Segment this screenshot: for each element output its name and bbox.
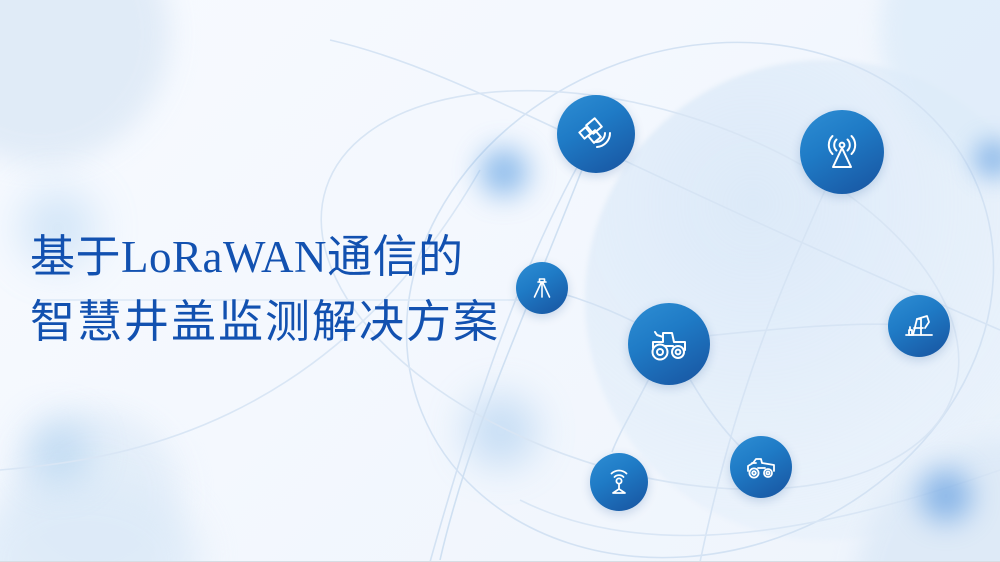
background-globe-circle xyxy=(585,60,1000,540)
survey-tripod-icon-bubble[interactable] xyxy=(516,262,568,314)
title-line-2: 智慧井盖监测解决方案 xyxy=(30,286,590,358)
background-dot-lower-left xyxy=(28,420,90,482)
background-dot-bottom-right xyxy=(920,470,972,522)
title-line-1: 基于LoRaWAN通信的 xyxy=(30,228,590,286)
background-dot-center xyxy=(465,395,537,467)
background-blob-bottom-right xyxy=(855,440,1000,562)
radio-tower-icon xyxy=(819,129,865,175)
wifi-beacon-icon-bubble[interactable] xyxy=(590,453,648,511)
tractor-icon-bubble[interactable] xyxy=(628,303,710,385)
dump-truck-icon-bubble[interactable] xyxy=(730,436,792,498)
satellite-dish-icon xyxy=(574,112,618,156)
survey-tripod-icon xyxy=(528,274,556,302)
tractor-icon xyxy=(645,320,693,368)
background-dot-upper-center xyxy=(480,148,528,196)
background-dot-right-edge xyxy=(974,140,1000,178)
dump-truck-icon xyxy=(743,449,779,485)
wifi-beacon-icon xyxy=(603,466,635,498)
background-blob-top-right xyxy=(880,0,1000,180)
background-blob-top-left xyxy=(0,0,170,164)
oil-pumpjack-icon xyxy=(901,308,937,344)
satellite-dish-icon-bubble[interactable] xyxy=(557,95,635,173)
oil-pumpjack-icon-bubble[interactable] xyxy=(888,295,950,357)
slide-title: 基于LoRaWAN通信的 智慧井盖监测解决方案 xyxy=(30,228,590,358)
background-blob-bottom-left-2 xyxy=(0,480,200,562)
background-blob-bottom-left xyxy=(10,410,180,562)
radio-tower-icon-bubble[interactable] xyxy=(800,110,884,194)
presentation-slide: 基于LoRaWAN通信的 智慧井盖监测解决方案 xyxy=(0,0,1000,562)
